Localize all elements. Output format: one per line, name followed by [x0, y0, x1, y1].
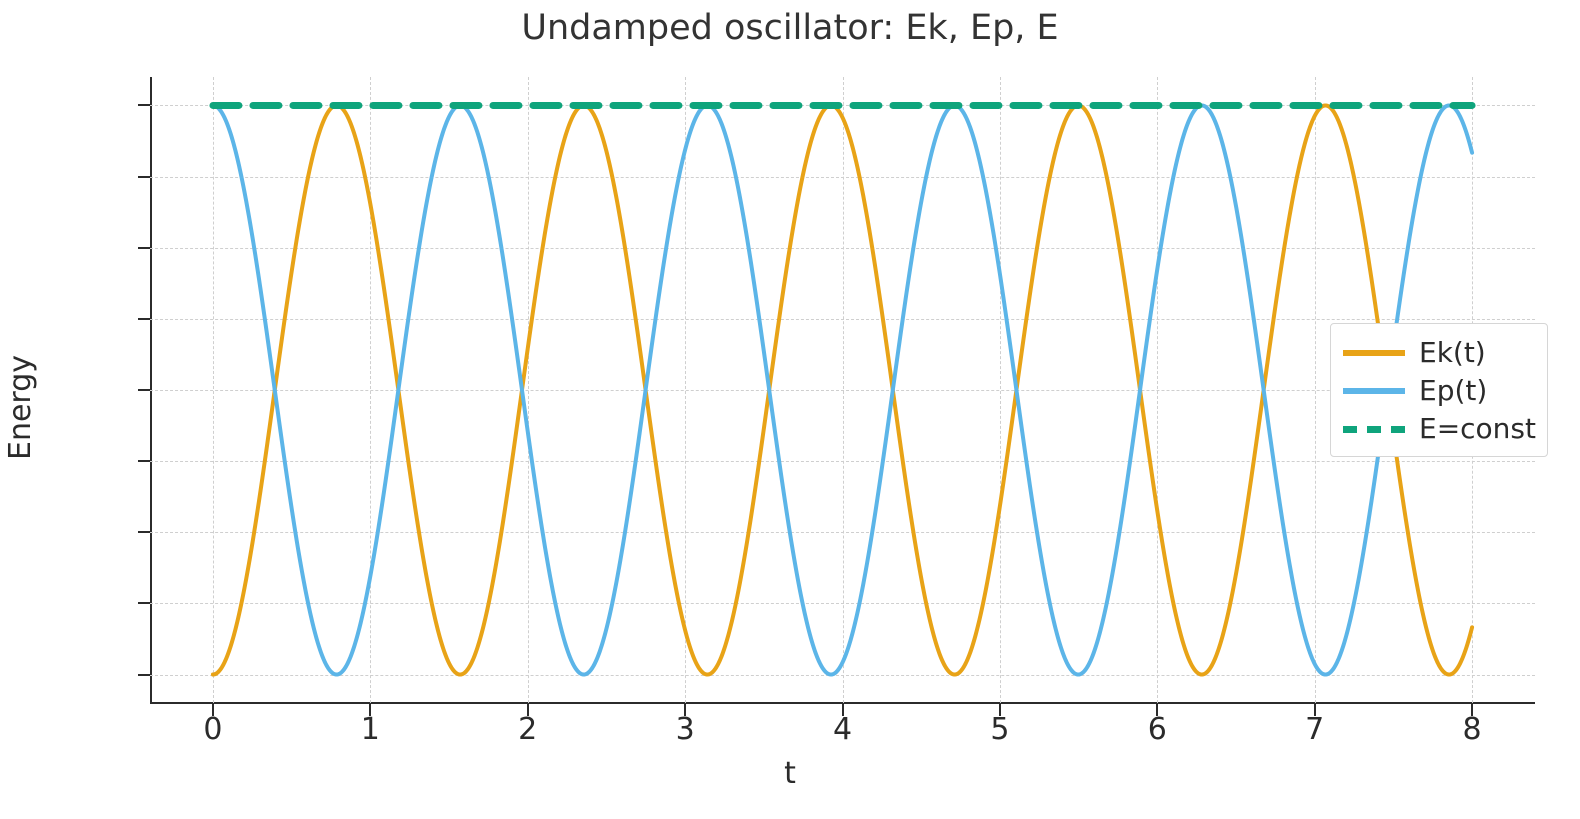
x-tick-label: 5 [990, 712, 1009, 747]
y-tick-mark [138, 531, 150, 533]
x-tick-label: 0 [203, 712, 222, 747]
x-tick-label: 1 [361, 712, 380, 747]
y-tick-mark [138, 602, 150, 604]
x-tick-label: 6 [1148, 712, 1167, 747]
y-tick-mark [138, 104, 150, 106]
gridline-horizontal [150, 319, 1535, 320]
x-tick-label: 3 [676, 712, 695, 747]
legend-swatch-icon [1343, 388, 1405, 394]
gridline-horizontal [150, 390, 1535, 391]
plot-area [150, 77, 1535, 703]
y-tick-mark [138, 674, 150, 676]
x-axis-label: t [0, 756, 1580, 791]
gridline-horizontal [150, 248, 1535, 249]
legend-label: Ek(t) [1419, 339, 1486, 367]
y-tick-mark [138, 176, 150, 178]
y-tick-mark [138, 460, 150, 462]
gridline-horizontal [150, 675, 1535, 676]
gridline-horizontal [150, 532, 1535, 533]
y-tick-mark [138, 318, 150, 320]
gridline-horizontal [150, 105, 1535, 106]
legend-item[interactable]: E=const [1331, 410, 1547, 448]
gridline-horizontal [150, 461, 1535, 462]
x-tick-label: 4 [833, 712, 852, 747]
legend-item[interactable]: Ek(t) [1331, 334, 1547, 372]
y-axis-label: Energy [3, 355, 38, 460]
x-tick-label: 2 [518, 712, 537, 747]
legend-swatch-icon [1343, 350, 1405, 356]
legend-item[interactable]: Ep(t) [1331, 372, 1547, 410]
x-tick-label: 7 [1305, 712, 1324, 747]
legend-label: E=const [1419, 415, 1536, 443]
gridline-horizontal [150, 603, 1535, 604]
y-tick-mark [138, 389, 150, 391]
y-tick-mark [138, 247, 150, 249]
legend-swatch-icon [1343, 426, 1405, 433]
gridline-horizontal [150, 177, 1535, 178]
chart-legend[interactable]: Ek(t)Ep(t)E=const [1330, 323, 1548, 457]
legend-label: Ep(t) [1419, 377, 1487, 405]
chart-figure: Undamped oscillator: Ek, Ep, E 0.000.250… [0, 0, 1580, 819]
chart-title: Undamped oscillator: Ek, Ep, E [0, 8, 1580, 48]
x-tick-label: 8 [1462, 712, 1481, 747]
